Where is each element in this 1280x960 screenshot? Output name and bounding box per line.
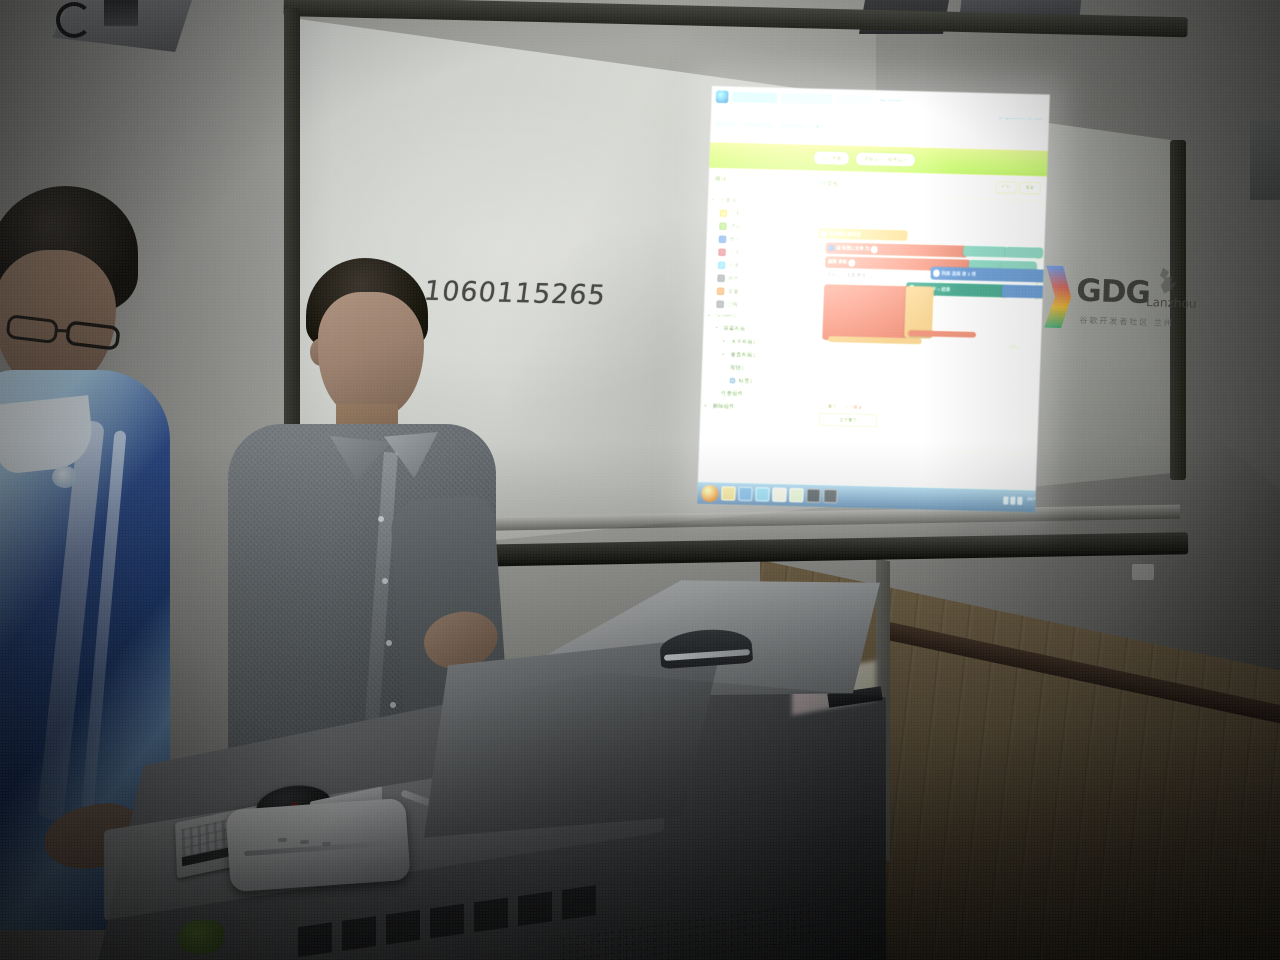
classroom-scene: 1060115265 GDG Lanzhou 谷歌开发者社区 兰州: [0, 0, 1280, 960]
room-shading: [0, 0, 1280, 960]
